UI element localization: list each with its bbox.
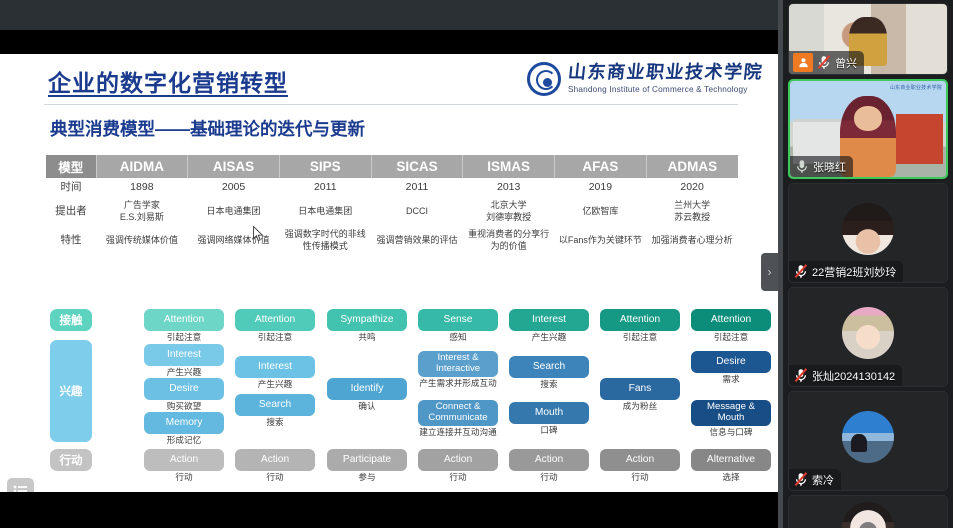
table-col-header-aidma: AIDMA [96,155,188,178]
table-cell: 2013 [463,178,555,197]
mic-active-icon [794,158,810,175]
table-cell: 兰州大学苏云教授 [646,197,738,226]
stage-pill-caption: 共鸣 [327,332,407,342]
stage-pill: Action [235,449,315,471]
stage-pill: Mouth [509,402,589,424]
header-divider [44,104,738,105]
stage-label-pill: 兴趣 [50,340,92,442]
stage-pill-caption: 感知 [418,332,498,342]
logo-name-en: Shandong Institute of Commerce & Technol… [568,86,763,95]
stage-pill-caption: 信息与口碑 [691,427,771,437]
stage-pill: Sympathize [327,309,407,331]
stage-pill-caption: 成为粉丝 [600,401,680,411]
stage-pill: Identify [327,378,407,400]
table-cell: 北京大学刘德寜教授 [463,197,555,226]
stage-pill-caption: 形成记忆 [144,435,224,445]
institution-logo: 山东商业职业技术学院 Shandong Institute of Commerc… [527,62,763,96]
zoom-meeting-window: 企业的数字化营销转型 山东商业职业技术学院 Shandong Institute… [0,0,953,528]
table-cell: 日本电通集团 [188,197,280,226]
host-icon [793,53,813,72]
logo-emblem-icon [527,62,561,96]
stage-pill: Interest & Interactive [418,351,498,377]
stage-pill-caption: 引起注意 [691,332,771,342]
table-row: 时间1898200520112011201320192020 [46,178,738,197]
participant-name: 张灿2024130142 [812,368,895,384]
table-cell: 日本电通集团 [279,197,371,226]
table-cell: 广告学家E.S.刘易斯 [96,197,188,226]
table-col-header-sicas: SICAS [371,155,463,178]
stage-pill-caption: 行动 [144,472,224,482]
stage-pill-caption: 产生兴趣 [144,367,224,377]
stage-pill-caption: 选择 [691,472,771,482]
table-col-header-admas: ADMAS [646,155,738,178]
table-cell: 2011 [279,178,371,197]
mouse-cursor [253,226,264,242]
logo-text: 山东商业职业技术学院 Shandong Institute of Commerc… [568,64,763,95]
stage-pill-caption: 产生兴趣 [509,332,589,342]
table-cell: 亿欧智库 [555,197,647,226]
stage-pill-caption: 建立连接并互动沟通 [418,427,498,437]
table-cell: 以Fans作为关键环节 [555,226,647,255]
stage-label-pill: 行动 [50,449,92,471]
avatar [842,411,894,463]
nameplate: 张灿2024130142 [789,365,902,386]
participant-tile-4[interactable]: 索冷 [788,391,948,491]
stage-pill: Search [509,356,589,378]
table-cell: 加强消费者心理分析 [646,226,738,255]
stage-pill-caption: 搜索 [509,379,589,389]
stage-pill: Alternative [691,449,771,471]
stage-pill: Attention [600,309,680,331]
stage-pill-caption: 引起注意 [144,332,224,342]
table-body: 时间1898200520112011201320192020提出者广告学家E.S… [46,178,738,256]
participant-name: 22营销2班刘妙玲 [812,264,896,280]
stage-pill-grid: 接触Attention引起注意Attention引起注意Sympathize共鸣… [46,306,738,492]
stage-pill-caption: 参与 [327,472,407,482]
shared-screen-region[interactable]: 企业的数字化营销转型 山东商业职业技术学院 Shandong Institute… [0,0,782,528]
stage-pill: Interest [235,356,315,378]
stage-pill: Attention [691,309,771,331]
share-top-bar [0,0,782,30]
mic-muted-icon [816,54,832,71]
letterbox-bottom [0,492,782,528]
table-cell: 2011 [371,178,463,197]
stage-pill-caption: 购买欲望 [144,401,224,411]
participant-tile-2[interactable]: 22营销2班刘妙玲 [788,183,948,283]
participant-video-strip[interactable]: 曾兴 山东商业职业技术学院 张晓红 [783,0,953,528]
nameplate: 曾兴 [789,51,864,74]
table-cell: 强调传统媒体价值 [96,226,188,255]
logo-name-cn: 山东商业职业技术学院 [567,64,764,83]
table-corner-header: 模型 [46,155,96,178]
list-icon[interactable] [7,478,34,492]
video-watermark: 山东商业职业技术学院 [890,84,942,91]
presentation-slide: 企业的数字化营销转型 山东商业职业技术学院 Shandong Institute… [0,54,782,492]
letterbox-top [0,30,782,54]
stage-pill-caption: 口碑 [509,425,589,435]
avatar [842,203,894,255]
stage-pill: Memory [144,412,224,434]
stage-pill-caption: 引起注意 [600,332,680,342]
stage-pill-caption: 行动 [235,472,315,482]
mic-muted-icon [793,367,809,384]
table-row: 特性强调传统媒体价值强调网络媒体价值强调数字时代的非线性传播模式强调营销效果的评… [46,226,738,255]
participant-tile-1[interactable]: 山东商业职业技术学院 张晓红 [788,79,948,179]
table-cell: 1898 [96,178,188,197]
stage-pill: Message & Mouth [691,400,771,426]
table-col-header-sips: SIPS [279,155,371,178]
stage-pill: Interest [144,344,224,366]
stage-pill: Attention [235,309,315,331]
participant-tile-0[interactable]: 曾兴 [788,3,948,75]
table-cell: 强调网络媒体价值 [188,226,280,255]
table-cell: 2019 [555,178,647,197]
table-cell: 2005 [188,178,280,197]
mic-muted-icon [793,263,809,280]
stage-pill: Search [235,394,315,416]
table-row-label: 特性 [46,226,96,255]
stage-pill: Action [509,449,589,471]
table-cell: 重视消费者的分享行为的价值 [463,226,555,255]
table-cell: DCCI [371,197,463,226]
stage-pill: Participate [327,449,407,471]
table-header-row: 模型AIDMAAISASSIPSSICASISMASAFASADMAS [46,155,738,178]
nameplate: 22营销2班刘妙玲 [789,261,903,282]
models-table: 模型AIDMAAISASSIPSSICASISMASAFASADMAS 时间18… [46,155,738,256]
stage-pill-caption: 行动 [418,472,498,482]
stage-pill: Attention [144,309,224,331]
stage-pill-caption: 确认 [327,401,407,411]
stage-pill: Desire [691,351,771,373]
nameplate: 张晓红 [790,156,853,177]
avatar [842,307,894,359]
stage-pill: Desire [144,378,224,400]
table-col-header-afas: AFAS [555,155,647,178]
stage-pill: Connect & Communicate [418,400,498,426]
bg-banner [896,114,943,164]
table-row: 提出者广告学家E.S.刘易斯日本电通集团日本电通集团DCCI北京大学刘德寜教授亿… [46,197,738,226]
participant-tile-5[interactable]: ▾ [788,495,948,528]
table-cell: 强调营销效果的评估 [371,226,463,255]
stage-pill: Action [144,449,224,471]
table-cell: 强调数字时代的非线性传播模式 [279,226,371,255]
stage-pill: Sense [418,309,498,331]
stage-pill: Action [418,449,498,471]
stage-pill-caption: 产生兴趣 [235,379,315,389]
stage-pill: Fans [600,378,680,400]
stage-pill-caption: 需求 [691,374,771,384]
stage-pill-caption: 产生需求并形成互动 [418,378,498,388]
table-col-header-aisas: AISAS [188,155,280,178]
stage-pill: Action [600,449,680,471]
participant-tile-3[interactable]: 张灿2024130142 [788,287,948,387]
slide-subtitle: 典型消费模型——基础理论的迭代与更新 [50,116,365,141]
stage-pill-caption: 引起注意 [235,332,315,342]
table-row-label: 时间 [46,178,96,197]
stage-pill-caption: 搜索 [235,417,315,427]
collapse-panel-handle[interactable]: › [761,253,778,291]
participant-name: 曾兴 [835,55,857,71]
mic-muted-icon [793,471,809,488]
participant-name: 索冷 [812,472,834,488]
participant-name: 张晓红 [813,159,846,175]
bg-face [854,106,882,131]
table-row-label: 提出者 [46,197,96,226]
slide-header: 企业的数字化营销转型 山东商业职业技术学院 Shandong Institute… [0,54,782,108]
stage-pill: Interest [509,309,589,331]
stage-pill-caption: 行动 [509,472,589,482]
stage-label-pill: 接触 [50,309,92,331]
table-cell: 2020 [646,178,738,197]
nameplate: 索冷 [789,469,841,490]
slide-title: 企业的数字化营销转型 [48,64,288,98]
table-col-header-ismas: ISMAS [463,155,555,178]
stage-pill-caption: 行动 [600,472,680,482]
chevron-right-icon: › [768,265,772,279]
